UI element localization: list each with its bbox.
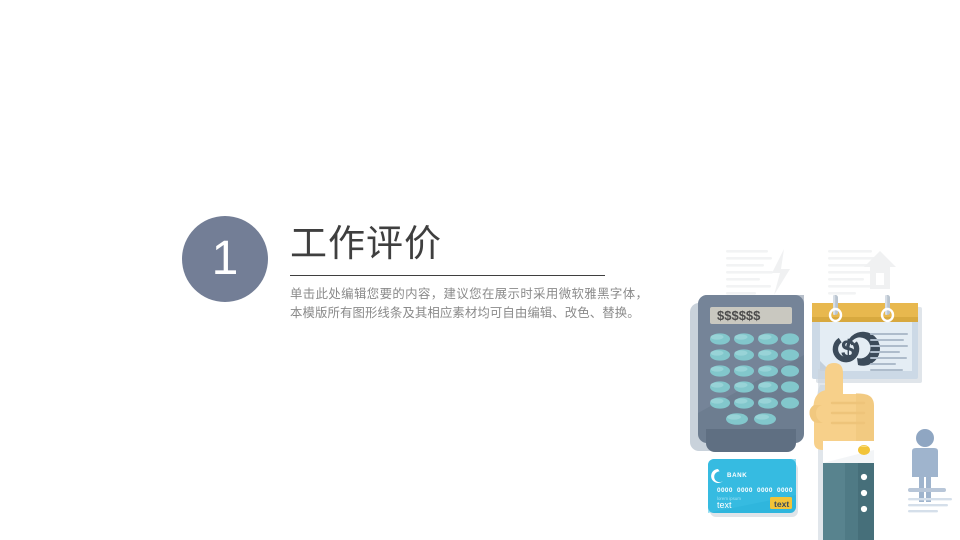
calculator: $$$$$$ [690,295,804,452]
svg-text:0000: 0000 [777,487,793,494]
card-holder-name: text [717,500,732,510]
person-caption [908,488,952,512]
watermark-right-block [828,250,896,295]
card-bank-label: BANK [727,472,747,479]
svg-text:0000: 0000 [757,487,773,494]
calculator-display-value: $$$$$$ [717,308,761,323]
page-title: 工作评价 [290,222,650,266]
lightning-bolt-icon [772,249,790,295]
pointing-hand [810,363,875,540]
title-divider [290,275,605,276]
calculator-base [706,429,796,452]
credit-card: BANK 0000 0000 0000 0000 lorem ipsum tex… [708,459,798,517]
watermark-left-block [726,249,790,295]
card-chip-label: text [774,499,789,509]
heading-block: 工作评价 单击此处编辑您要的内容，建议您在展示时采用微软雅黑字体，本模版所有图形… [290,222,650,323]
body-paragraph: 单击此处编辑您要的内容，建议您在展示时采用微软雅黑字体，本模版所有图形线条及其相… [290,285,648,323]
svg-text:0000: 0000 [737,487,753,494]
svg-text:$: $ [841,334,856,364]
finance-illustration: $$$$$$ [680,245,960,540]
slide-canvas: 1 工作评价 单击此处编辑您要的内容，建议您在展示时采用微软雅黑字体，本模版所有… [0,0,960,540]
section-number-badge: 1 [182,216,268,302]
section-number: 1 [212,235,239,283]
svg-text:0000: 0000 [717,487,733,494]
